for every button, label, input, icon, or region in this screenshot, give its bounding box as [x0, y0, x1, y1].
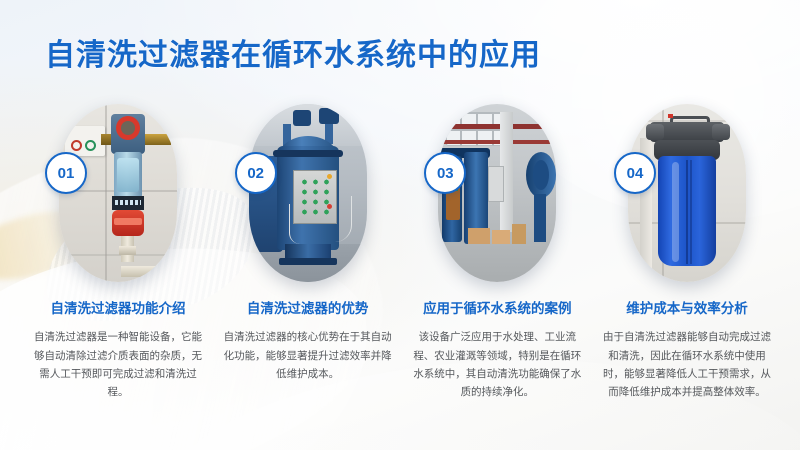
blue-filter-housing-photo — [628, 104, 746, 282]
cards-row: 01 自清洗过滤器功能介绍 自清洗过滤器是一种智能设备，它能够自动清除过滤介质表… — [30, 104, 775, 434]
card-03[interactable]: 03 应用于循环水系统的案例 该设备广泛应用于水处理、工业流程、农业灌溉等领域，… — [409, 104, 585, 402]
wall-mounted-self-cleaning-filter-photo — [59, 104, 177, 282]
card-01-number-badge: 01 — [45, 152, 87, 194]
card-01[interactable]: 01 自清洗过滤器功能介绍 自清洗过滤器是一种智能设备，它能够自动清除过滤介质表… — [30, 104, 206, 402]
card-04[interactable]: 04 维护成本与效率分析 由于自清洗过滤器能够自动完成过滤和清洗，因此在循环水系… — [599, 104, 775, 402]
card-04-title: 维护成本与效率分析 — [603, 300, 771, 318]
card-02-photo-wrap: 02 — [249, 104, 367, 282]
slide-canvas: 自清洗过滤器在循环水系统中的应用 01 自清洗过滤器功能介绍 自清洗过滤器是一种… — [0, 0, 800, 450]
card-03-title: 应用于循环水系统的案例 — [413, 300, 581, 318]
card-02-title: 自清洗过滤器的优势 — [224, 300, 392, 318]
card-04-body: 由于自清洗过滤器能够自动完成过滤和清洗，因此在循环水系统中使用时，能够显著降低人… — [601, 328, 773, 402]
card-03-photo-wrap: 03 — [438, 104, 556, 282]
card-04-number-badge: 04 — [614, 152, 656, 194]
page-title: 自清洗过滤器在循环水系统中的应用 — [45, 30, 541, 74]
card-01-photo-wrap: 01 — [59, 104, 177, 282]
card-03-body: 该设备广泛应用于水处理、工业流程、农业灌溉等领域，特别是在循环水系统中，其自动清… — [411, 328, 583, 402]
card-04-photo-wrap: 04 — [628, 104, 746, 282]
card-02-body: 自清洗过滤器的核心优势在于其自动化功能，能够显著提升过滤效率并降低维护成本。 — [222, 328, 394, 383]
card-01-title: 自清洗过滤器功能介绍 — [34, 300, 202, 318]
factory-hall-filtration-equipment-photo — [438, 104, 556, 282]
card-01-body: 自清洗过滤器是一种智能设备，它能够自动清除过滤介质表面的杂质，无需人工干预即可完… — [32, 328, 204, 402]
card-02[interactable]: 02 自清洗过滤器的优势 自清洗过滤器的核心优势在于其自动化功能，能够显著提升过… — [220, 104, 396, 383]
card-02-number-badge: 02 — [235, 152, 277, 194]
industrial-blue-filter-vessel-photo — [249, 104, 367, 282]
card-03-number-badge: 03 — [424, 152, 466, 194]
